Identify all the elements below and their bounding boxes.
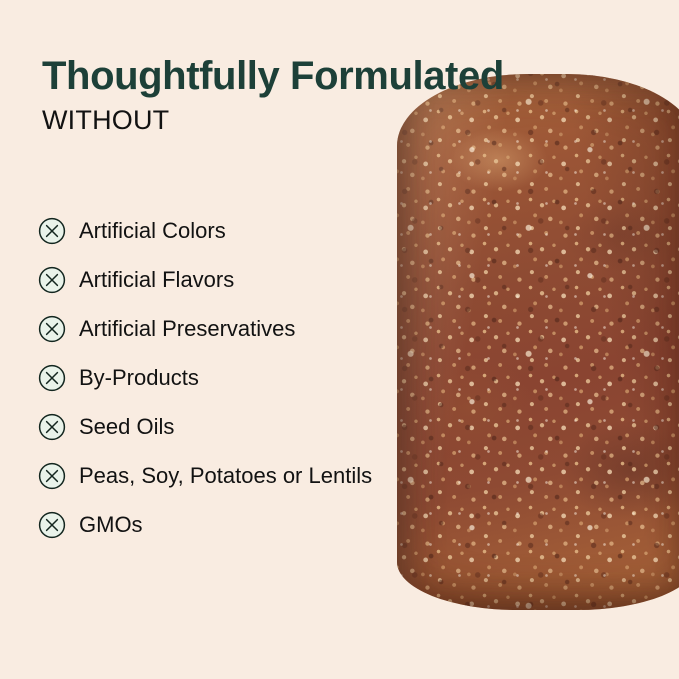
exclusion-list: Artificial Colors Artificial Flavors Art… xyxy=(38,206,372,549)
surface-gloss xyxy=(397,74,679,610)
product-benefits-infographic: Thoughtfully Formulated WITHOUT Artifici… xyxy=(0,0,679,679)
texture-speckle-dark xyxy=(397,74,679,610)
edge-shading xyxy=(397,74,679,610)
product-image-stage xyxy=(379,0,679,679)
list-item-label: By-Products xyxy=(79,365,199,391)
list-item-label: Artificial Flavors xyxy=(79,267,234,293)
list-item-label: Artificial Preservatives xyxy=(79,316,295,342)
list-item: Artificial Preservatives xyxy=(38,304,372,353)
x-circle-icon xyxy=(38,266,66,294)
list-item-label: Seed Oils xyxy=(79,414,174,440)
list-item: By-Products xyxy=(38,353,372,402)
list-item: Artificial Colors xyxy=(38,206,372,255)
page-subtitle: WITHOUT xyxy=(42,104,169,136)
x-circle-icon xyxy=(38,364,66,392)
x-circle-icon xyxy=(38,462,66,490)
list-item-label: Artificial Colors xyxy=(79,218,226,244)
list-item: Artificial Flavors xyxy=(38,255,372,304)
x-circle-icon xyxy=(38,217,66,245)
list-item: GMOs xyxy=(38,500,372,549)
x-circle-icon xyxy=(38,315,66,343)
x-circle-icon xyxy=(38,511,66,539)
texture-sparkle xyxy=(397,74,679,610)
x-circle-icon xyxy=(38,413,66,441)
texture-flecks xyxy=(397,74,679,610)
dog-treat-photo xyxy=(397,74,679,610)
page-title: Thoughtfully Formulated xyxy=(42,54,504,98)
texture-speckle-light xyxy=(397,74,679,610)
list-item: Seed Oils xyxy=(38,402,372,451)
list-item-label: GMOs xyxy=(79,512,143,538)
list-item-label: Peas, Soy, Potatoes or Lentils xyxy=(79,463,372,489)
list-item: Peas, Soy, Potatoes or Lentils xyxy=(38,451,372,500)
